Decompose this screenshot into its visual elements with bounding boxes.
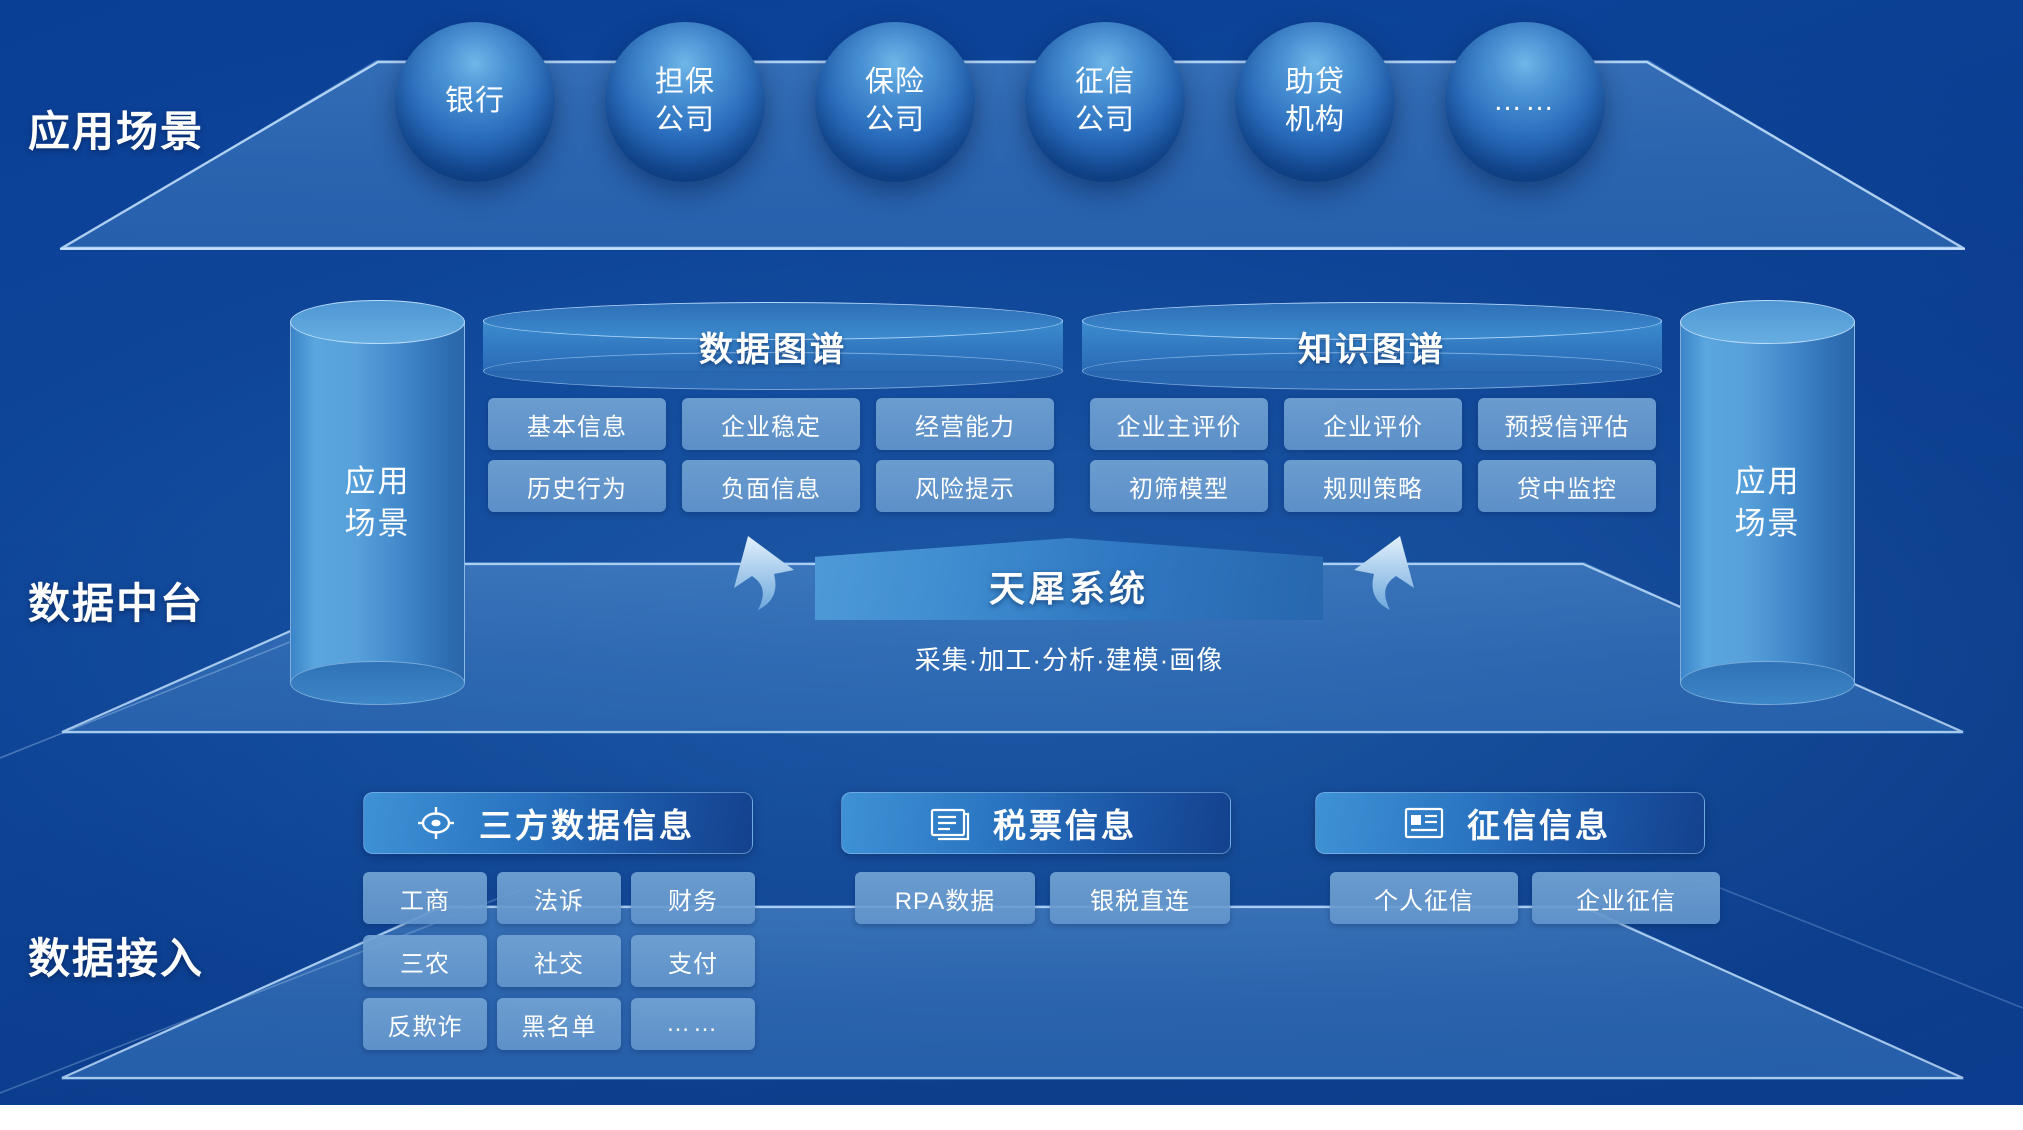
sphere-label-line: 保险 — [865, 64, 925, 102]
target-icon — [415, 802, 457, 844]
chip-data-graph-risk-alert[interactable]: 风险提示 — [876, 460, 1054, 512]
chip-data-graph-enterprise-stability[interactable]: 企业稳定 — [682, 398, 860, 450]
chip-third-party-social[interactable]: 社交 — [497, 935, 621, 987]
chip-tax-rpa-data[interactable]: RPA数据 — [855, 872, 1035, 924]
group-header-tax-invoice-data[interactable]: 税票信息 — [841, 792, 1231, 854]
sphere-credit-agency[interactable]: 征信 公司 — [1025, 22, 1185, 182]
sphere-label-line: …… — [1493, 83, 1557, 121]
group-header-title: 三方数据信息 — [479, 799, 701, 847]
chip-tax-bank-tax-direct[interactable]: 银税直连 — [1050, 872, 1230, 924]
section-label-data-middle-platform: 数据中台 — [28, 570, 204, 631]
chip-credit-personal[interactable]: 个人征信 — [1330, 872, 1518, 924]
sphere-label-line: 担保 — [655, 64, 715, 102]
chip-knowledge-graph-rule-strategy[interactable]: 规则策略 — [1284, 460, 1462, 512]
cylinder-label-line: 场景 — [345, 503, 411, 545]
sphere-loan-assist[interactable]: 助贷 机构 — [1235, 22, 1395, 182]
chip-third-party-more[interactable]: …… — [631, 998, 755, 1050]
cylinder-label: 应用 场景 — [290, 300, 465, 705]
invoice-icon — [929, 804, 971, 842]
sphere-label-line: 机构 — [1285, 102, 1345, 140]
sphere-label-line: 征信 — [1075, 64, 1135, 102]
core-system-title: 天犀系统 — [815, 538, 1323, 620]
cylinder-label-line: 场景 — [1735, 503, 1801, 545]
sphere-label-line: 银行 — [445, 83, 505, 121]
chip-third-party-agriculture[interactable]: 三农 — [363, 935, 487, 987]
cylinder-left-application-scenarios[interactable]: 应用 场景 — [290, 300, 465, 705]
group-header-third-party-data[interactable]: 三方数据信息 — [363, 792, 753, 854]
canvas-bottom-margin — [0, 1105, 2023, 1130]
chip-credit-enterprise[interactable]: 企业征信 — [1532, 872, 1720, 924]
sphere-insurance[interactable]: 保险 公司 — [815, 22, 975, 182]
disc-knowledge-graph[interactable]: 知识图谱 — [1082, 302, 1662, 390]
id-card-icon — [1403, 806, 1445, 840]
cylinder-label-line: 应用 — [1735, 461, 1801, 503]
group-header-title: 征信信息 — [1467, 799, 1617, 847]
chip-knowledge-graph-precredit-assessment[interactable]: 预授信评估 — [1478, 398, 1656, 450]
disc-title: 数据图谱 — [483, 302, 1063, 390]
chip-data-graph-operating-capability[interactable]: 经营能力 — [876, 398, 1054, 450]
section-label-application-scenarios: 应用场景 — [28, 98, 204, 159]
sphere-bank[interactable]: 银行 — [395, 22, 555, 182]
chip-knowledge-graph-loan-monitoring[interactable]: 贷中监控 — [1478, 460, 1656, 512]
arrow-up-left-icon — [708, 528, 818, 618]
chip-data-graph-basic-info[interactable]: 基本信息 — [488, 398, 666, 450]
chip-knowledge-graph-enterprise-rating[interactable]: 企业评价 — [1284, 398, 1462, 450]
chip-third-party-anti-fraud[interactable]: 反欺诈 — [363, 998, 487, 1050]
infographic-canvas: 应用场景 数据中台 数据接入 银行 担保 公司 保险 公司 征信 公司 助贷 机… — [0, 0, 2023, 1130]
chip-third-party-finance[interactable]: 财务 — [631, 872, 755, 924]
chip-data-graph-negative-info[interactable]: 负面信息 — [682, 460, 860, 512]
sphere-more[interactable]: …… — [1445, 22, 1605, 182]
disc-data-graph[interactable]: 数据图谱 — [483, 302, 1063, 390]
cylinder-label-line: 应用 — [345, 461, 411, 503]
group-header-title: 税票信息 — [993, 799, 1143, 847]
platform-1-outline — [60, 60, 1965, 252]
chip-third-party-blacklist[interactable]: 黑名单 — [497, 998, 621, 1050]
disc-title: 知识图谱 — [1082, 302, 1662, 390]
cylinder-label: 应用 场景 — [1680, 300, 1855, 705]
sphere-label-line: 公司 — [1075, 102, 1135, 140]
decorative-streak-right — [1700, 880, 2023, 1010]
sphere-label-line: 助贷 — [1285, 64, 1345, 102]
chip-knowledge-graph-owner-rating[interactable]: 企业主评价 — [1090, 398, 1268, 450]
chip-third-party-business-registration[interactable]: 工商 — [363, 872, 487, 924]
arrow-up-right-icon — [1330, 528, 1440, 618]
core-system-banner[interactable]: 天犀系统 — [815, 538, 1323, 620]
sphere-guarantee[interactable]: 担保 公司 — [605, 22, 765, 182]
section-label-data-access: 数据接入 — [28, 925, 204, 986]
chip-third-party-litigation[interactable]: 法诉 — [497, 872, 621, 924]
chip-knowledge-graph-prescreen-model[interactable]: 初筛模型 — [1090, 460, 1268, 512]
chip-third-party-payment[interactable]: 支付 — [631, 935, 755, 987]
chip-data-graph-historical-behavior[interactable]: 历史行为 — [488, 460, 666, 512]
sphere-label-line: 公司 — [865, 102, 925, 140]
group-header-credit-report-data[interactable]: 征信信息 — [1315, 792, 1705, 854]
cylinder-right-application-scenarios[interactable]: 应用 场景 — [1680, 300, 1855, 705]
core-system-caption: 采集·加工·分析·建模·画像 — [815, 640, 1323, 677]
sphere-label-line: 公司 — [655, 102, 715, 140]
